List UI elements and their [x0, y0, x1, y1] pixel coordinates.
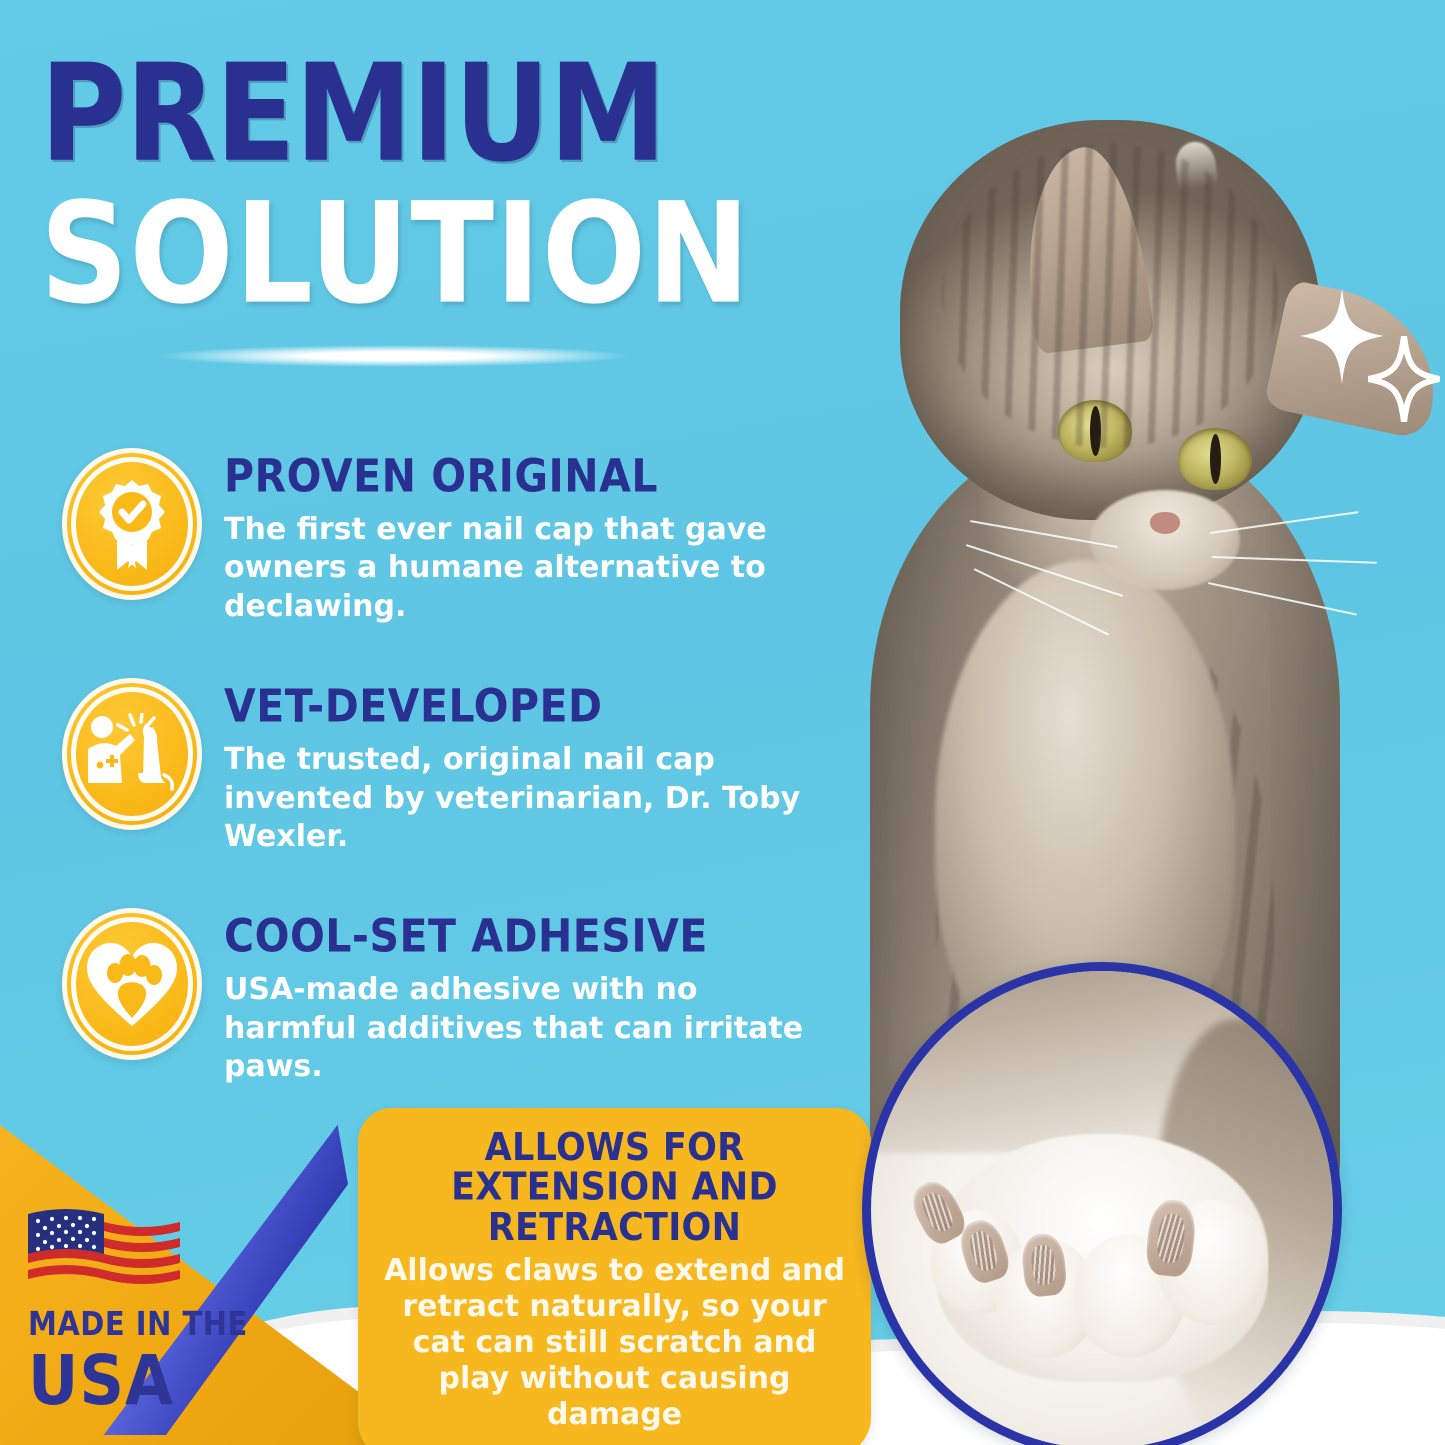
headline-line-1: PREMIUM [40, 48, 830, 180]
cat-eye-right [1178, 428, 1252, 490]
headline-underline-swoosh [160, 345, 630, 367]
made-in-usa-line-1: MADE IN THE [28, 1308, 258, 1340]
feature-title: COOL-SET ADHESIVE [224, 914, 804, 959]
award-ribbon-check-icon [62, 448, 202, 600]
product-feature-poster: PREMIUM SOLUTION PROVEN ORIGINAL The fir… [0, 0, 1445, 1445]
feature-body: USA-made adhesive with no harmful additi… [224, 971, 804, 1086]
feature-item: COOL-SET ADHESIVE USA-made adhesive with… [62, 908, 822, 1086]
cat-head [900, 120, 1320, 520]
feature-body: The first ever nail cap that gave owners… [224, 511, 804, 626]
headline-block: PREMIUM SOLUTION [40, 48, 830, 301]
paw-with-nail-caps-inset [862, 962, 1342, 1445]
headline-line-2: SOLUTION [40, 186, 862, 322]
cat-ear-tuft [1173, 140, 1218, 191]
feature-title: VET-DEVELOPED [224, 684, 804, 729]
feature-item: PROVEN ORIGINAL The first ever nail cap … [62, 448, 822, 626]
extension-retraction-callout: ALLOWS FOR EXTENSION AND RETRACTION Allo… [358, 1108, 871, 1445]
feature-title: PROVEN ORIGINAL [224, 454, 804, 499]
feature-body: The trusted, original nail cap invented … [224, 741, 804, 856]
cat-eye-left [1058, 400, 1132, 462]
made-in-usa-line-2: USA [28, 1347, 258, 1415]
callout-title: ALLOWS FOR EXTENSION AND RETRACTION [384, 1128, 845, 1248]
callout-body: Allows claws to extend and retract natur… [384, 1253, 845, 1433]
made-in-usa-badge: MADE IN THE USA [28, 1208, 258, 1409]
vet-high-five-cat-icon [62, 678, 202, 830]
cat-ear-left [1013, 142, 1154, 355]
sparkle-star-outline-icon [1368, 336, 1440, 422]
heart-paw-icon [62, 908, 202, 1060]
cat-whiskers [960, 490, 1300, 660]
usa-flag-icon [28, 1208, 180, 1294]
feature-item: VET-DEVELOPED The trusted, original nail… [62, 678, 822, 856]
feature-list: PROVEN ORIGINAL The first ever nail cap … [62, 448, 822, 1139]
